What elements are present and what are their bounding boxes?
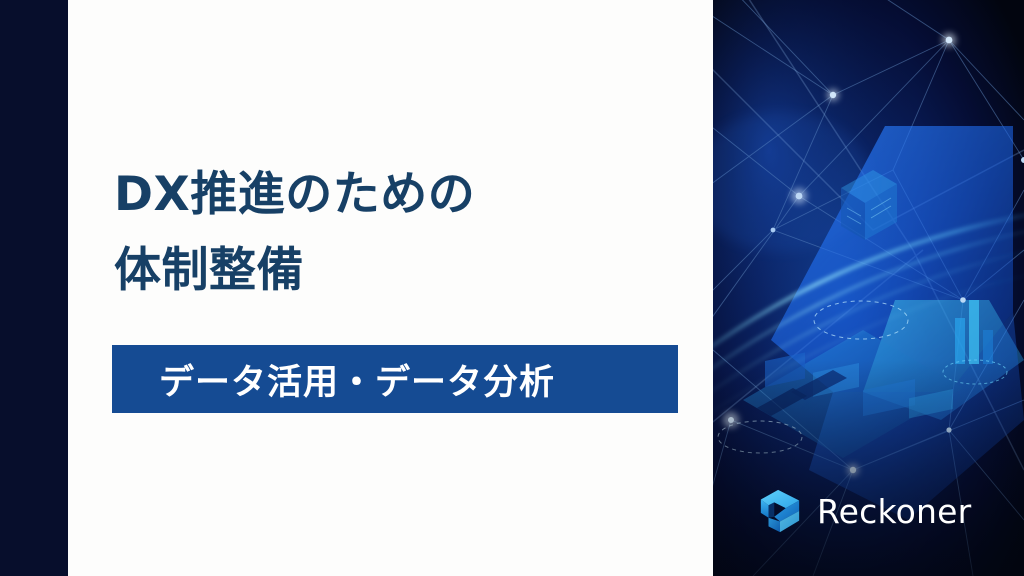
subtitle-banner: データ活用・データ分析 xyxy=(112,345,678,413)
reckoner-logo: Reckoner xyxy=(757,488,971,534)
title-line-2: 体制整備 xyxy=(114,233,714,309)
title-line-1: DX推進のための xyxy=(114,157,714,233)
reckoner-logo-mark-icon xyxy=(757,488,803,534)
left-accent-bar xyxy=(0,0,68,576)
reckoner-wordmark: Reckoner xyxy=(817,495,971,528)
slide-canvas: DX推進のための 体制整備 データ活用・データ分析 xyxy=(0,0,1024,576)
subtitle-banner-label: データ活用・データ分析 xyxy=(159,354,555,405)
page-title: DX推進のための 体制整備 xyxy=(114,157,714,309)
